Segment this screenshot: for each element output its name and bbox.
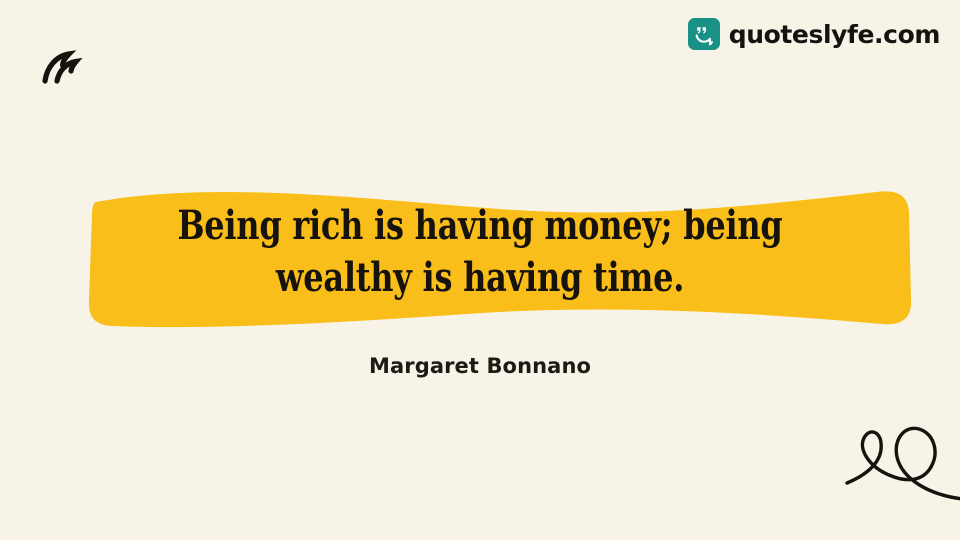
quote-author: Margaret Bonnano — [0, 352, 960, 380]
quote-card: Being rich is having money; being wealth… — [0, 0, 960, 540]
brand-watermark[interactable]: quoteslyfe.com — [688, 18, 940, 50]
brand-name-label: quoteslyfe.com — [729, 22, 940, 47]
double-swoosh-icon — [42, 48, 86, 86]
loop-squiggle-icon — [845, 415, 960, 510]
quote-text: Being rich is having money; being wealth… — [96, 200, 864, 304]
quote-smiley-icon — [688, 18, 720, 50]
